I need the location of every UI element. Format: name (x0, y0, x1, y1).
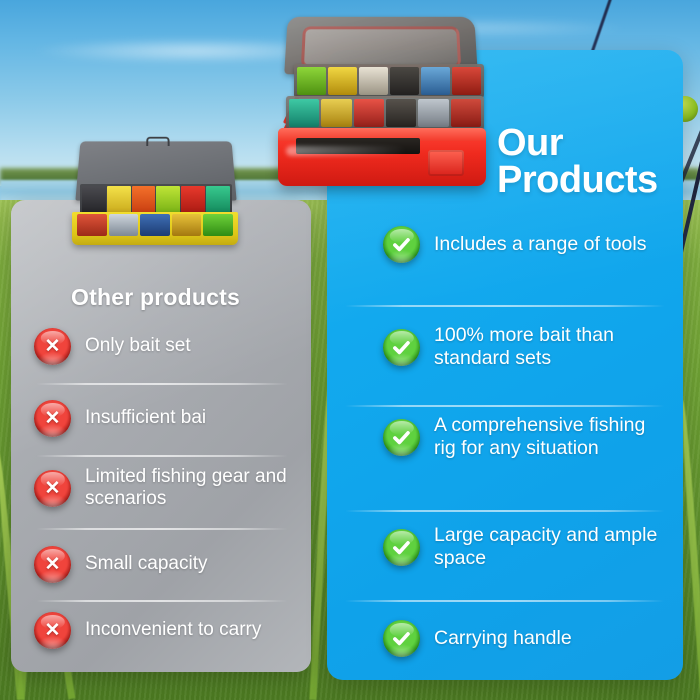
list-item[interactable]: 100% more bait than standard sets (383, 324, 671, 370)
list-item-label: 100% more bait than standard sets (434, 324, 671, 370)
list-item-label: Carrying handle (434, 627, 572, 650)
our-products-title-line2: Products (497, 159, 658, 201)
list-item[interactable]: Large capacity and ample space (383, 524, 671, 570)
list-item[interactable]: ✕ Small capacity (34, 546, 299, 583)
red-tackle-box-image (272, 16, 494, 186)
cross-icon: ✕ (34, 328, 71, 365)
divider (36, 528, 288, 530)
divider (345, 600, 665, 602)
list-item[interactable]: Carrying handle (383, 620, 671, 657)
cross-icon: ✕ (34, 470, 71, 507)
list-item[interactable]: A comprehensive fishing rig for any situ… (383, 414, 671, 460)
list-item-label: Small capacity (85, 553, 208, 575)
divider (36, 455, 288, 457)
check-icon (383, 226, 420, 263)
list-item[interactable]: Includes a range of tools (383, 226, 668, 263)
list-item-label: Includes a range of tools (434, 233, 646, 256)
list-item-label: Inconvenient to carry (85, 619, 261, 641)
check-icon (383, 529, 420, 566)
list-item[interactable]: ✕ Limited fishing gear and scenarios (34, 466, 304, 511)
list-item[interactable]: ✕ Inconvenient to carry (34, 612, 299, 649)
list-item-label: Insufficient bai (85, 407, 206, 429)
check-icon (383, 419, 420, 456)
list-item[interactable]: ✕ Only bait set (34, 328, 299, 365)
list-item-label: Only bait set (85, 335, 191, 357)
handle-icon (146, 137, 169, 146)
cross-icon: ✕ (34, 546, 71, 583)
divider (345, 510, 665, 512)
list-item-label: A comprehensive fishing rig for any situ… (434, 414, 671, 460)
infographic-canvas: Other products ✕ Only bait set ✕ Insuffi… (0, 0, 700, 700)
our-products-title: Our Products (497, 125, 687, 198)
cross-icon: ✕ (34, 612, 71, 649)
list-item-label: Large capacity and ample space (434, 524, 671, 570)
other-products-title: Other products (0, 284, 311, 311)
divider (36, 383, 288, 385)
check-icon (383, 329, 420, 366)
divider (345, 305, 665, 307)
check-icon (383, 620, 420, 657)
latch-icon (428, 150, 464, 176)
cross-icon: ✕ (34, 400, 71, 437)
list-item[interactable]: ✕ Insufficient bai (34, 400, 299, 437)
yellow-tackle-box-image (72, 140, 238, 245)
divider (36, 600, 288, 602)
list-item-label: Limited fishing gear and scenarios (85, 466, 304, 511)
divider (345, 405, 665, 407)
